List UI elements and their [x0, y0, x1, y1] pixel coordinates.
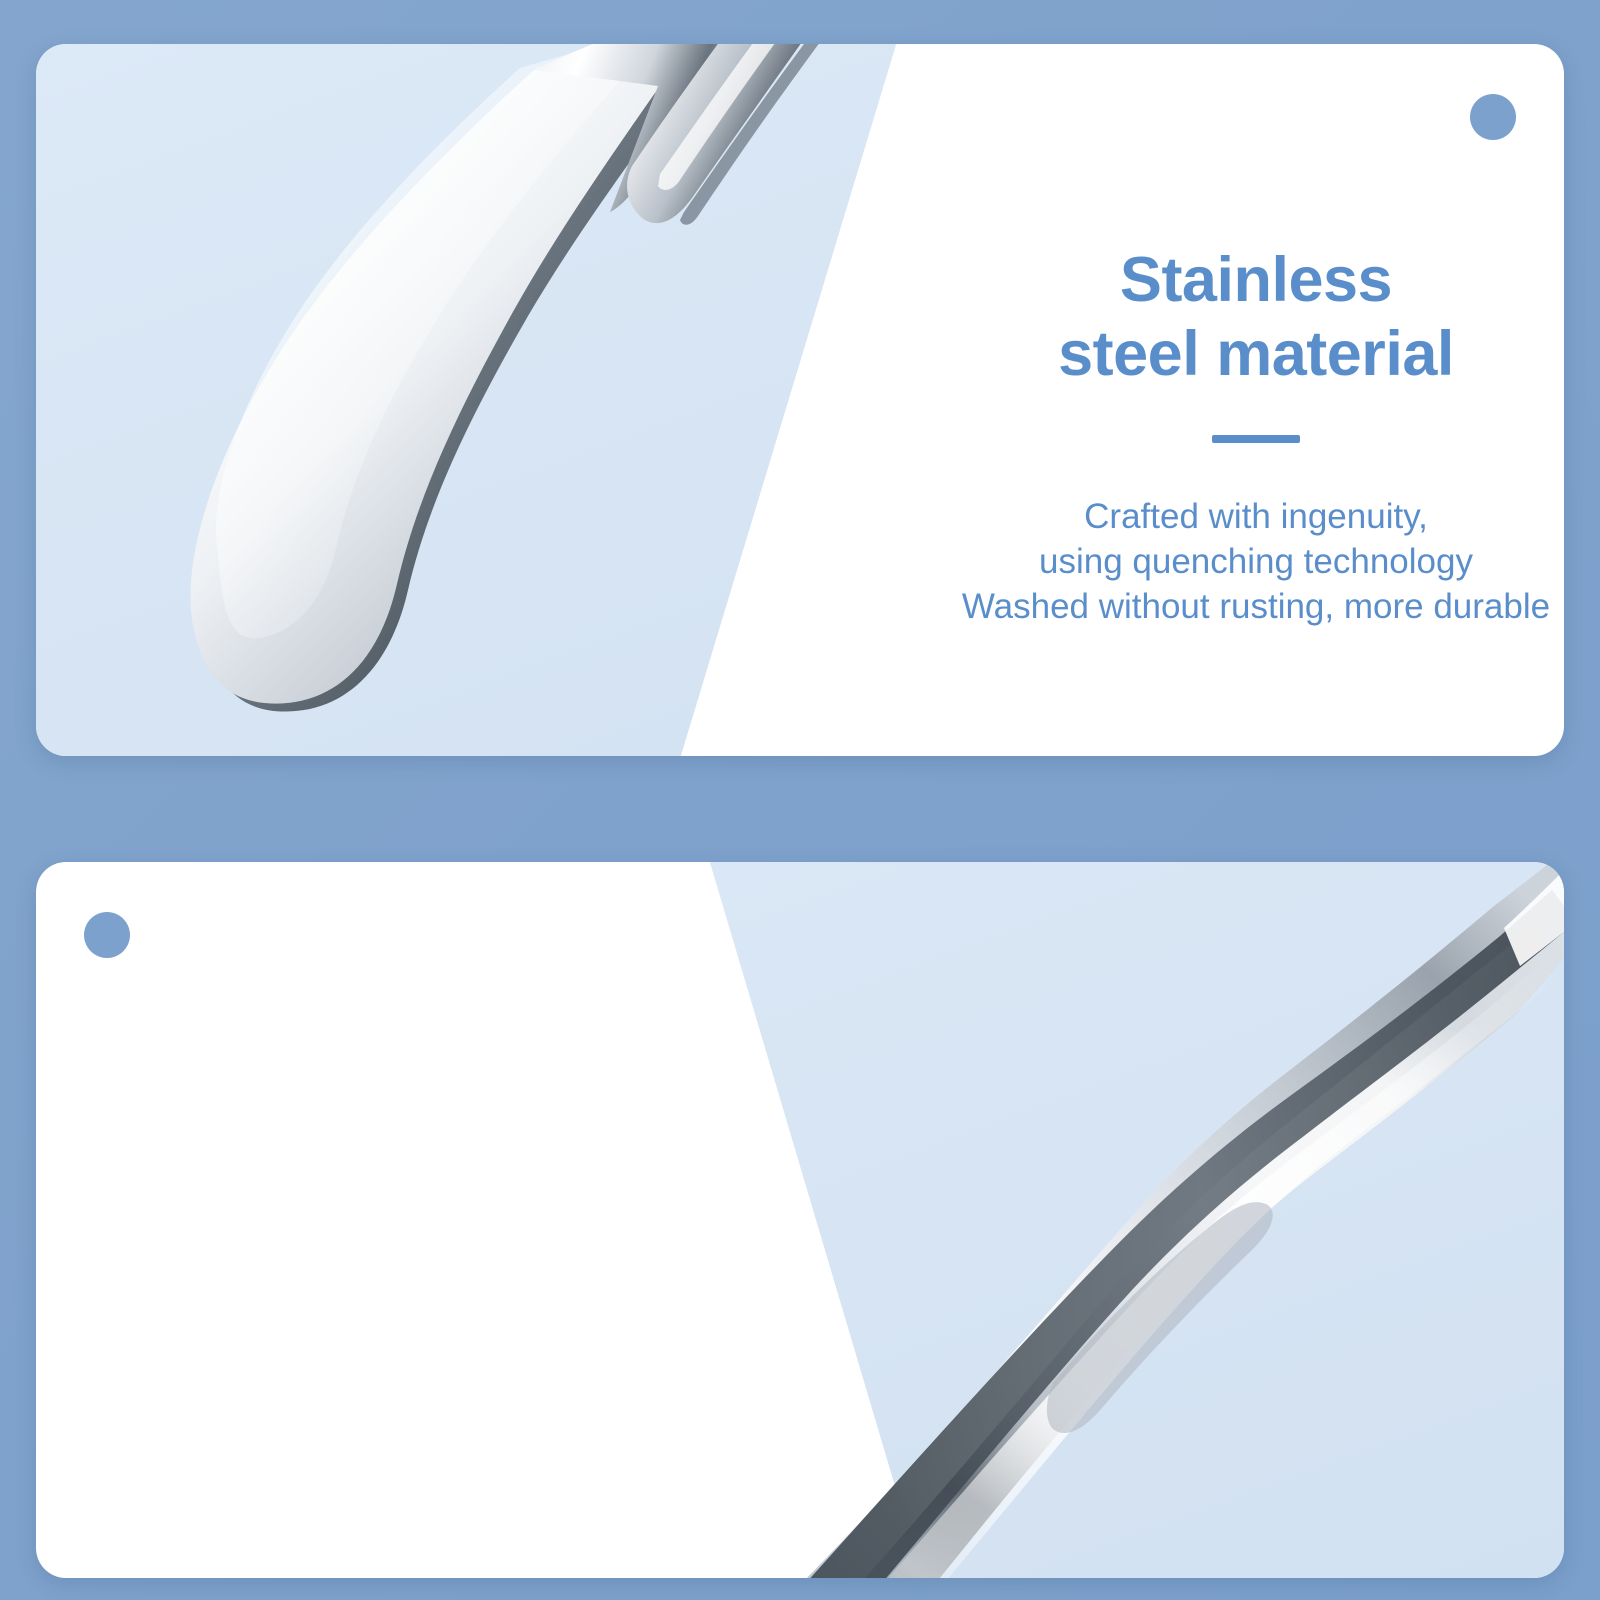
feature-card-concave-grip-position: Concave grip position Not easy to slip h… — [36, 862, 1564, 1578]
material-headline: Stainless steel material — [941, 244, 1564, 391]
material-copy-block: Stainless steel material Crafted with in… — [941, 244, 1564, 630]
feature-card-stainless-steel-material: Stainless steel material Crafted with in… — [36, 44, 1564, 756]
product-infographic-page: Stainless steel material Crafted with in… — [0, 0, 1600, 1600]
angled-tint-panel — [36, 862, 1564, 1578]
accent-dot-icon — [1470, 94, 1516, 140]
accent-dot-icon — [84, 912, 130, 958]
material-subcopy: Crafted with ingenuity, using quenching … — [941, 495, 1564, 629]
headline-divider — [1212, 435, 1300, 443]
